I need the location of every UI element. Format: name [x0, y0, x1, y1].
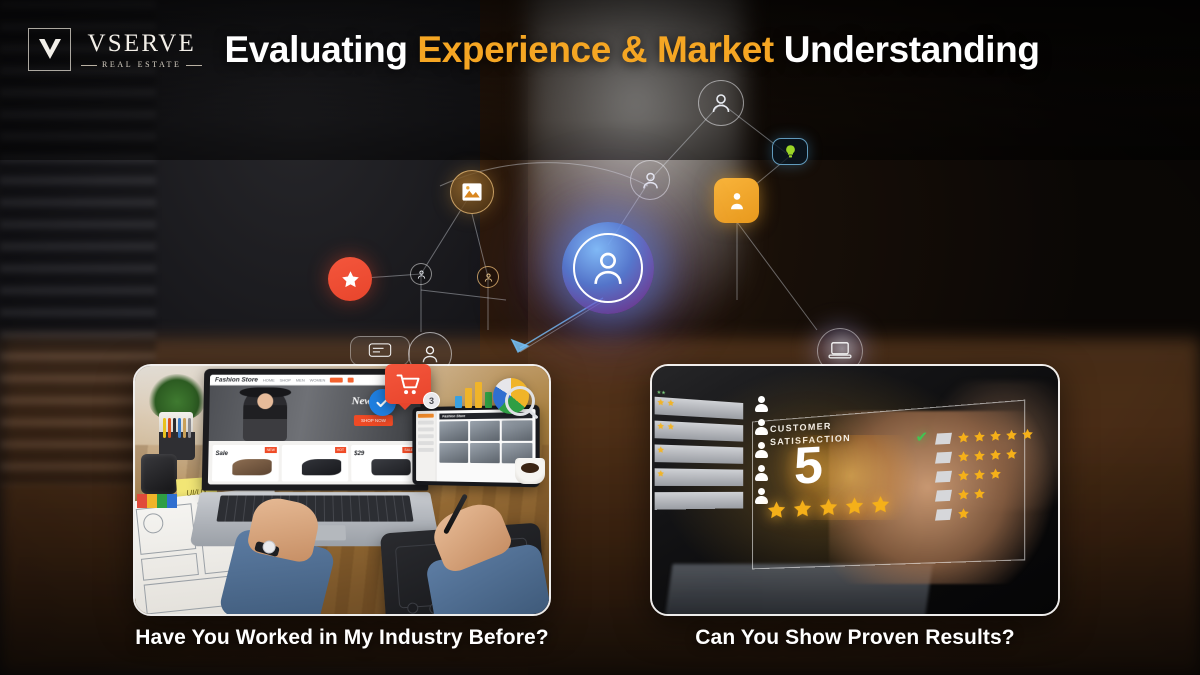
- distribution-row: [936, 466, 1034, 484]
- color-swatches: [137, 494, 177, 508]
- product-price: $29: [354, 451, 364, 457]
- review-rows-strip: ★★: [653, 392, 746, 583]
- star-icon: [818, 497, 839, 524]
- star-icon: [870, 494, 891, 521]
- panel-title-line-1: CUSTOMER: [770, 420, 832, 433]
- headline-part-3: Understanding: [784, 29, 1040, 70]
- brand-wordmark: VSERVE REAL ESTATE: [81, 29, 202, 69]
- product-card[interactable]: HOT: [282, 445, 349, 481]
- chevron-v-logo-icon: [28, 28, 71, 71]
- nav-cart-pill[interactable]: [348, 377, 354, 382]
- product-label: Sale: [215, 451, 228, 457]
- brand-logo[interactable]: VSERVE REAL ESTATE: [28, 28, 202, 71]
- review-row: [655, 492, 744, 510]
- review-row: [655, 420, 744, 441]
- brand-tagline: REAL ESTATE: [102, 61, 181, 69]
- star-icon: [844, 496, 865, 523]
- headline-part-1: Evaluating: [224, 29, 417, 70]
- camera-lens-decor: [141, 454, 177, 494]
- proven-results-caption: Can You Show Proven Results?: [650, 626, 1060, 650]
- avatar: [754, 396, 769, 413]
- product-tag: HOT: [335, 447, 346, 453]
- nav-link-3[interactable]: WOMEN: [310, 377, 326, 382]
- distribution-row: [936, 447, 1034, 465]
- product-row: Sale NEW HOT $29 SALE: [208, 441, 422, 484]
- product-card[interactable]: Sale NEW: [212, 445, 279, 481]
- page-title: Evaluating Experience & Market Understan…: [224, 31, 1039, 68]
- customer-satisfaction-rating-photo: ★★ CUSTOMER SATI: [652, 366, 1058, 614]
- distribution-row: [936, 485, 1034, 503]
- rating-distribution: [936, 428, 1034, 522]
- slide-canvas: VSERVE REAL ESTATE Evaluating Experience…: [0, 0, 1200, 675]
- industry-experience-caption: Have You Worked in My Industry Before?: [133, 626, 551, 650]
- brand-name: VSERVE: [88, 31, 196, 56]
- coffee-cup-decor: [515, 458, 545, 484]
- slide-header: VSERVE REAL ESTATE Evaluating Experience…: [0, 0, 1200, 98]
- tablet-brand: Fashion Store: [442, 414, 465, 418]
- brand-tagline-row: REAL ESTATE: [81, 61, 202, 69]
- tagline-rule-left: [81, 65, 97, 66]
- nav-link-0[interactable]: HOME: [263, 377, 275, 382]
- hero-shop-button[interactable]: SHOP NOW: [354, 415, 393, 426]
- star-icon: [766, 500, 787, 527]
- nav-link-2[interactable]: MEN: [296, 377, 305, 382]
- green-check-icon: ✔: [916, 428, 929, 446]
- nav-link-1[interactable]: SHOP: [280, 377, 291, 382]
- review-row: ★★: [655, 396, 744, 419]
- tablet-sidebar: [416, 411, 436, 482]
- headline-part-2: Experience & Market: [417, 29, 783, 70]
- product-tag: NEW: [265, 447, 277, 453]
- cart-badge: 3: [423, 392, 440, 409]
- tagline-rule-right: [186, 65, 202, 66]
- review-row: [655, 444, 744, 463]
- review-row: [655, 468, 744, 486]
- bar-chart-icon: [455, 380, 492, 408]
- satisfaction-score: 5: [794, 440, 823, 494]
- shopping-cart-icon: 3: [385, 364, 431, 404]
- nav-cta-pill[interactable]: [330, 377, 343, 382]
- proven-results-card[interactable]: ★★ CUSTOMER SATI: [650, 364, 1060, 616]
- site-brand: Fashion Store: [215, 376, 258, 383]
- product-card[interactable]: $29 SALE: [351, 445, 418, 481]
- magnifier-icon: [505, 386, 535, 416]
- star-icon: [792, 498, 813, 525]
